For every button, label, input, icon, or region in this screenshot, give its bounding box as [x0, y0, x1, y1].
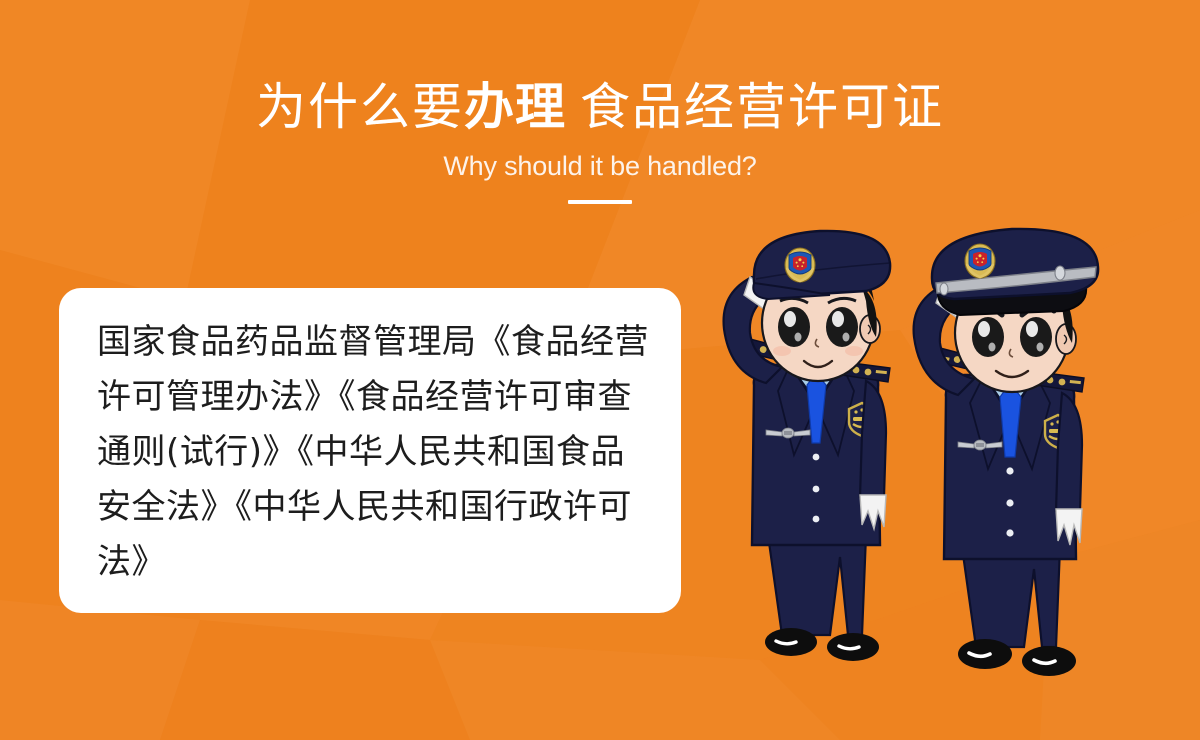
legal-basis-text: 国家食品药品监督管理局《食品经营许可管理办法》《食品经营许可审查通则(试行)》《… — [97, 315, 653, 590]
female-officer-figure — [724, 231, 891, 661]
title-emphasis: 办理 — [464, 79, 566, 135]
page-title: 为什么要办理食品经营许可证 — [0, 78, 1200, 136]
title-suffix: 食品经营许可证 — [580, 79, 944, 135]
officers-illustration — [690, 205, 1200, 705]
poster-canvas: 为什么要办理食品经营许可证 Why should it be handled? … — [0, 0, 1200, 740]
male-officer-figure — [914, 229, 1099, 676]
page-subtitle: Why should it be handled? — [0, 149, 1200, 183]
legal-basis-card: 国家食品药品监督管理局《食品经营许可管理办法》《食品经营许可审查通则(试行)》《… — [59, 288, 681, 613]
title-prefix: 为什么要 — [256, 79, 464, 135]
title-divider — [568, 200, 632, 204]
